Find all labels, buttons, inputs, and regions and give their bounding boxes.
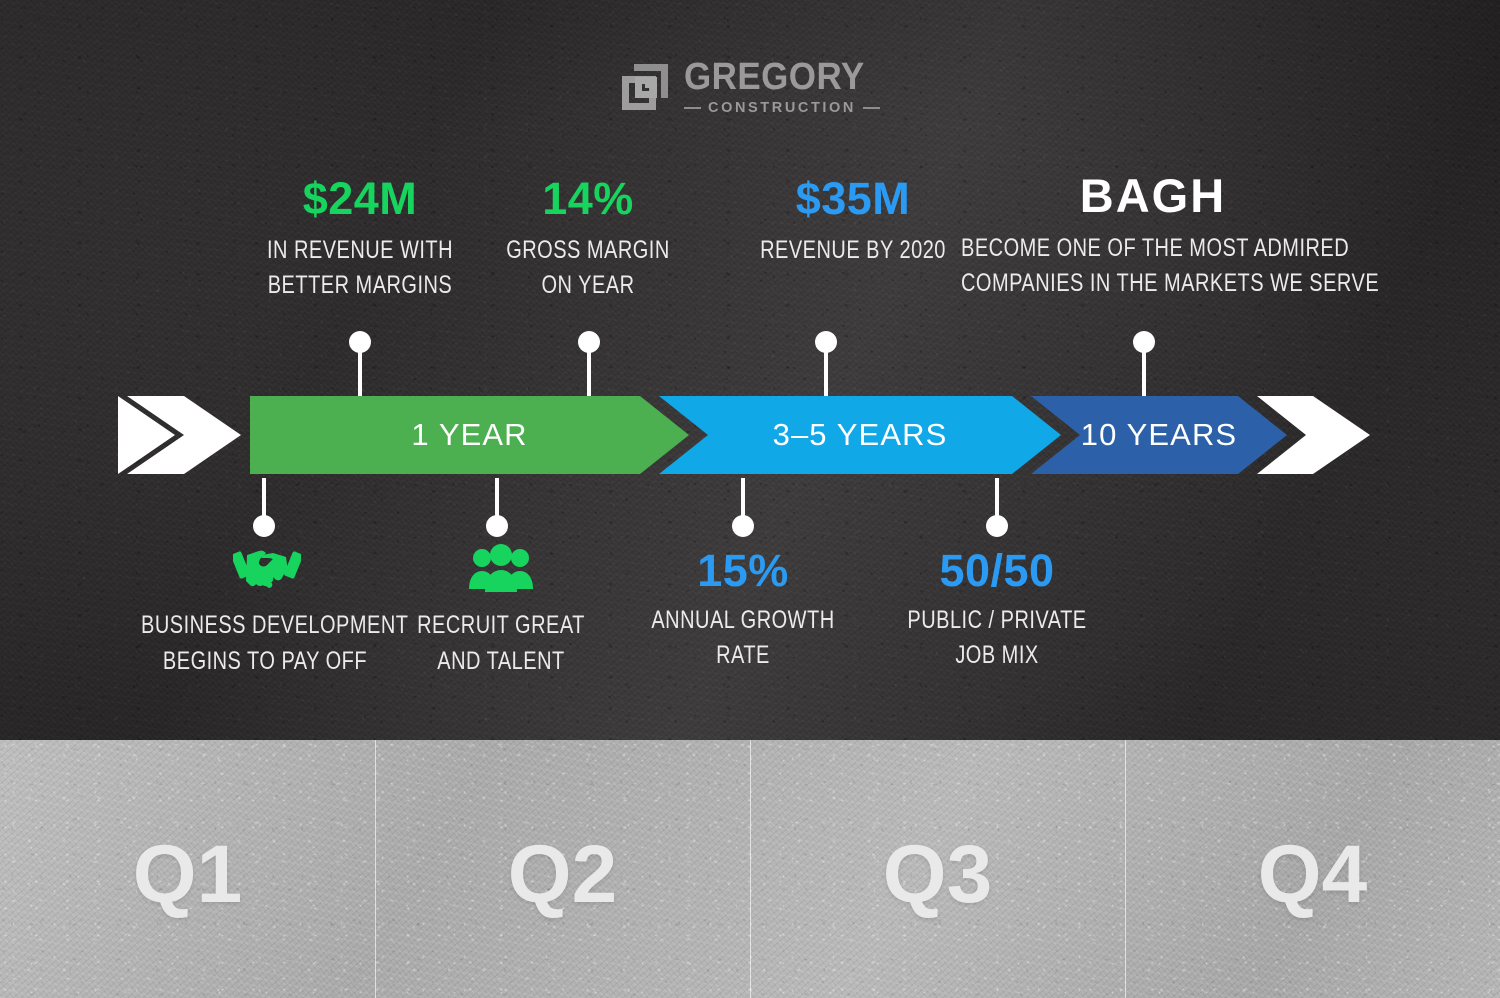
logo-subtitle-row: CONSTRUCTION: [684, 101, 880, 116]
callout-line-2: AND TALENT: [401, 644, 601, 680]
connector-pin-recruit: [486, 478, 508, 537]
pin-dot-icon: [732, 515, 754, 537]
quarter-cell-q3[interactable]: Q3: [750, 740, 1125, 998]
pin-dot-icon: [349, 331, 371, 353]
callout-line-1: RECRUIT GREAT: [401, 608, 601, 644]
callout-recruit-great-and-talent: RECRUIT GREAT AND TALENT: [376, 608, 626, 679]
company-logo: GREGORY CONSTRUCTION: [0, 58, 1500, 116]
callout-15-percent-annual-growth: 15% ANNUAL GROWTH RATE: [618, 548, 868, 674]
callout-line-2: ON YEAR: [460, 268, 716, 304]
timeline-segment-3-5-years-label: 3–5 YEARS: [659, 392, 1061, 478]
people-group-icon: [466, 543, 536, 598]
logo-subtitle: CONSTRUCTION: [708, 101, 856, 116]
timeline-bar: 1 YEAR 3–5 YEARS 10 YEARS: [0, 392, 1500, 478]
logo-company-name: GREGORY: [684, 58, 865, 96]
quarter-label: Q3: [883, 834, 992, 916]
callout-line-1: PUBLIC / PRIVATE: [897, 603, 1097, 639]
logo-rule-right: [863, 107, 880, 109]
pin-dot-icon: [986, 515, 1008, 537]
quarters-strip: Q1 Q2 Q3 Q4: [0, 740, 1500, 998]
callout-line-1: BUSINESS DEVELOPMENT: [141, 608, 389, 644]
connector-pin-15-percent: [732, 478, 754, 537]
pin-dot-icon: [815, 331, 837, 353]
callout-line-2: JOB MIX: [897, 638, 1097, 674]
gregory-g-mark-icon: [620, 62, 670, 112]
quarter-label: Q1: [133, 834, 242, 916]
connector-pin-business-development: [253, 478, 275, 537]
pin-dot-icon: [253, 515, 275, 537]
callout-line-2: BEGINS TO PAY OFF: [141, 644, 389, 680]
timeline-segment-1-year-label: 1 YEAR: [250, 392, 689, 478]
quarter-cell-q2[interactable]: Q2: [375, 740, 750, 998]
quarter-cell-q1[interactable]: Q1: [0, 740, 375, 998]
callout-business-development: BUSINESS DEVELOPMENT BEGINS TO PAY OFF: [110, 608, 420, 679]
logo-wordmark: GREGORY CONSTRUCTION: [684, 58, 880, 116]
connector-pin-50-50: [986, 478, 1008, 537]
callout-value: 15%: [618, 548, 868, 594]
quarter-label: Q2: [508, 834, 617, 916]
pin-dot-icon: [1133, 331, 1155, 353]
callout-line-1: BECOME ONE OF THE MOST ADMIRED: [961, 231, 1345, 267]
logo-rule-left: [684, 107, 701, 109]
pin-stem: [495, 478, 499, 516]
pin-stem: [262, 478, 266, 516]
callout-50-50-public-private: 50/50 PUBLIC / PRIVATE JOB MIX: [872, 548, 1122, 674]
white-chevron-start: [118, 396, 241, 474]
handshake-icon: [233, 542, 301, 599]
callout-line-2: RATE: [643, 638, 843, 674]
pin-dot-icon: [486, 515, 508, 537]
pin-stem: [741, 478, 745, 516]
callout-line-1: ANNUAL GROWTH: [643, 603, 843, 639]
pin-stem: [995, 478, 999, 516]
quarter-cell-q4[interactable]: Q4: [1125, 740, 1500, 998]
callout-bagh: BAGH BECOME ONE OF THE MOST ADMIRED COMP…: [913, 172, 1393, 302]
callout-line-2: COMPANIES IN THE MARKETS WE SERVE: [961, 266, 1345, 302]
timeline-segment-10-years-label: 10 YEARS: [1031, 392, 1287, 478]
callout-value: 50/50: [872, 548, 1122, 594]
pin-dot-icon: [578, 331, 600, 353]
infographic-canvas: GREGORY CONSTRUCTION $24M IN REVENUE WIT…: [0, 0, 1500, 998]
callout-value: BAGH: [913, 172, 1393, 220]
quarter-label: Q4: [1258, 834, 1367, 916]
